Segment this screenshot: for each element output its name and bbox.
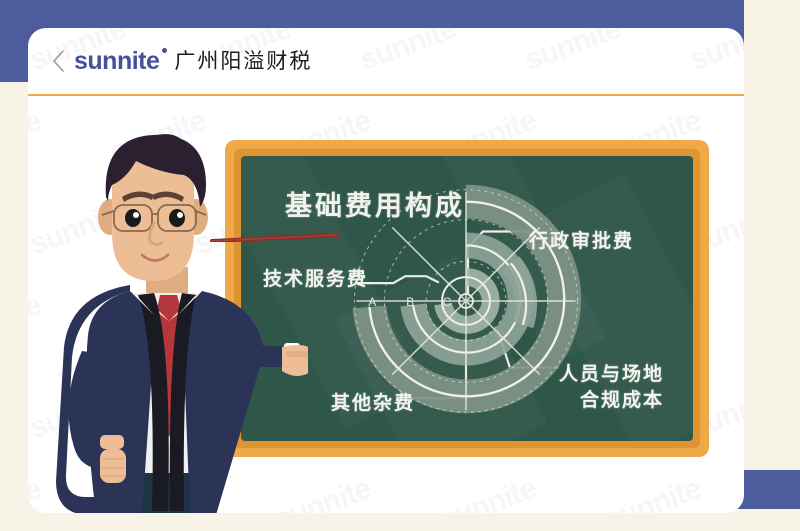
chart-label-people-line2: 合规成本 (559, 388, 664, 414)
teacher-left-hand (100, 435, 126, 483)
teacher-illustration (38, 115, 308, 513)
chart-label-misc: 其他杂费 (331, 391, 415, 417)
content-card: sunnitesunnitesunnitesunnitesunnitesunni… (28, 28, 744, 513)
chart-label-people: 人员与场地 合规成本 (559, 362, 664, 413)
radial-chart: A B C (354, 190, 577, 412)
header-divider (28, 94, 744, 96)
cream-panel-right (744, 0, 800, 470)
ring-marker-c: C (443, 295, 452, 309)
pointer-stick (210, 234, 340, 242)
company-name: 广州阳溢财税 (174, 51, 312, 72)
back-button[interactable] (48, 48, 68, 74)
chevron-left-icon (52, 50, 65, 72)
chart-label-admin: 行政审批费 (529, 229, 634, 255)
teacher-hand (282, 343, 308, 376)
ring-marker-b: B (406, 295, 414, 309)
screenshot-stage: sunnitesunnitesunnitesunnitesunnitesunni… (0, 0, 800, 531)
blackboard-surface: 基础费用构成 (241, 156, 693, 441)
brand-dot-icon (162, 48, 167, 53)
watermark-text: sunnite (600, 472, 705, 513)
brand-logo[interactable]: sunnite (74, 49, 159, 74)
brand-logo-text: sunnite (74, 47, 159, 75)
app-header: sunnite 广州阳溢财税 (28, 28, 744, 94)
chart-label-people-line1: 人员与场地 (559, 362, 664, 388)
ring-marker-a: A (368, 295, 376, 309)
watermark-text: sunnite (435, 472, 540, 513)
